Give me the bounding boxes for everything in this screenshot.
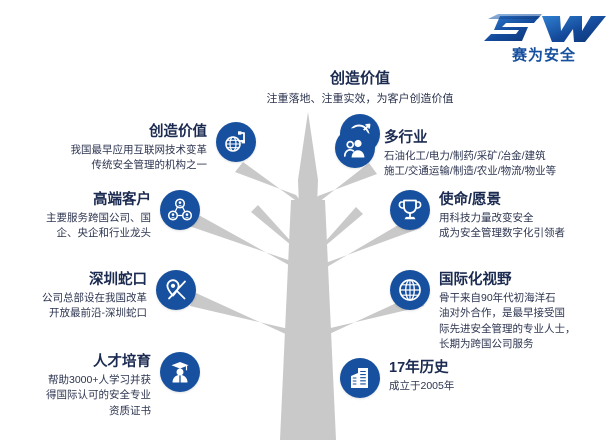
- node-title: 17年历史: [389, 359, 454, 377]
- globe-icon: [390, 270, 430, 310]
- node-desc: 帮助3000+人学习并获得国际认可的安全专业资质证书: [46, 373, 151, 419]
- node-desc: 我国最早应用互联网技术变革传统安全管理的机构之一: [71, 143, 208, 173]
- org-chart-icon: [160, 190, 200, 230]
- brand-logo: 赛为安全: [482, 8, 606, 66]
- node-title: 高端客户: [46, 191, 151, 209]
- node-text: 人才培育 帮助3000+人学习并获得国际认可的安全专业资质证书: [46, 352, 160, 419]
- node-top-clients[interactable]: 高端客户 主要服务跨国公司、国企、央企和行业龙头: [28, 190, 200, 242]
- node-text: 创造价值 注重落地、注重实效，为客户创造价值: [267, 70, 454, 114]
- node-create-value-left[interactable]: 创造价值 我国最早应用互联网技术变革传统安全管理的机构之一: [28, 122, 256, 174]
- node-multi-industry[interactable]: 多行业 石油化工/电力/制药/采矿/冶金/建筑施工/交通运输/制造/农业/物流/…: [335, 128, 610, 180]
- node-desc: 主要服务跨国公司、国企、央企和行业龙头: [46, 211, 151, 241]
- globe-network-icon: [216, 122, 256, 162]
- node-mission-vision[interactable]: 使命/愿景 用科技力量改变安全成为安全管理数字化引领者: [390, 190, 610, 242]
- brand-name-cn: 赛为安全: [482, 48, 606, 63]
- node-title: 创造价值: [71, 123, 208, 141]
- node-title: 创造价值: [267, 70, 454, 89]
- node-title: 多行业: [384, 129, 556, 147]
- node-text: 多行业 石油化工/电力/制药/采矿/冶金/建筑施工/交通运输/制造/农业/物流/…: [375, 128, 556, 180]
- node-text: 深圳蛇口 公司总部设在我国改革开放最前沿-深圳蛇口: [42, 270, 156, 322]
- building-icon: [340, 358, 380, 398]
- location-pin-icon: [156, 270, 196, 310]
- node-global-vision[interactable]: 国际化视野 骨干来自90年代初海洋石油对外合作，是最早接受国际先进安全管理的专业…: [390, 270, 612, 352]
- graduate-worker-icon: [160, 352, 200, 392]
- node-talent[interactable]: 人才培育 帮助3000+人学习并获得国际认可的安全专业资质证书: [28, 352, 200, 419]
- tree-trunk: [280, 200, 336, 440]
- node-text: 高端客户 主要服务跨国公司、国企、央企和行业龙头: [46, 190, 160, 242]
- sw-logo-icon: [482, 8, 606, 50]
- node-title: 使命/愿景: [439, 191, 565, 209]
- node-history[interactable]: 17年历史 成立于2005年: [340, 358, 540, 398]
- node-text: 使命/愿景 用科技力量改变安全成为安全管理数字化引领者: [430, 190, 565, 242]
- node-title: 人才培育: [46, 353, 151, 371]
- node-desc: 石油化工/电力/制药/采矿/冶金/建筑施工/交通运输/制造/农业/物流/物业等: [384, 149, 556, 179]
- trophy-icon: [390, 190, 430, 230]
- node-text: 创造价值 我国最早应用互联网技术变革传统安全管理的机构之一: [71, 122, 217, 174]
- node-desc: 公司总部设在我国改革开放最前沿-深圳蛇口: [42, 291, 147, 321]
- node-desc: 骨干来自90年代初海洋石油对外合作，是最早接受国际先进安全管理的专业人士，长期为…: [439, 291, 576, 352]
- people-icon: [335, 128, 375, 168]
- node-text: 17年历史 成立于2005年: [380, 358, 454, 394]
- node-text: 国际化视野 骨干来自90年代初海洋石油对外合作，是最早接受国际先进安全管理的专业…: [430, 270, 576, 352]
- node-title: 深圳蛇口: [42, 271, 147, 289]
- node-title: 国际化视野: [439, 271, 576, 289]
- node-desc: 成立于2005年: [389, 379, 454, 394]
- infographic-canvas: 赛为安全 创造价值 注重落地、注重实效，为客户创造价值: [0, 0, 616, 445]
- branch-mid-left: [189, 213, 305, 274]
- node-shenzhen[interactable]: 深圳蛇口 公司总部设在我国改革开放最前沿-深圳蛇口: [26, 270, 196, 322]
- node-desc: 注重落地、注重实效，为客户创造价值: [267, 92, 454, 108]
- node-desc: 用科技力量改变安全成为安全管理数字化引领者: [439, 211, 565, 241]
